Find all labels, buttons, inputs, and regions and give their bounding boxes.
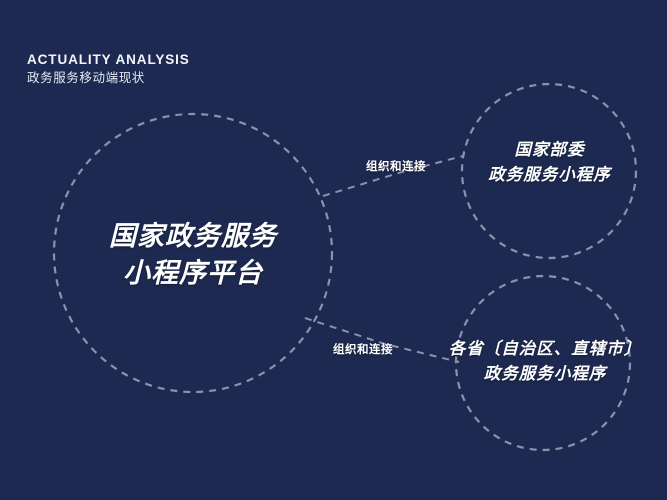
slide-canvas: ACTUALITY ANALYSIS 政务服务移动端现状 国家政务服务 小程序平… — [0, 0, 667, 500]
diagram-graphic — [0, 0, 667, 500]
provinces-circle-outline — [456, 276, 630, 450]
departments-circle-outline — [462, 84, 636, 258]
hub-circle-outline — [54, 114, 332, 392]
connector-line-bottom — [305, 318, 459, 362]
connector-line-top — [323, 156, 463, 196]
